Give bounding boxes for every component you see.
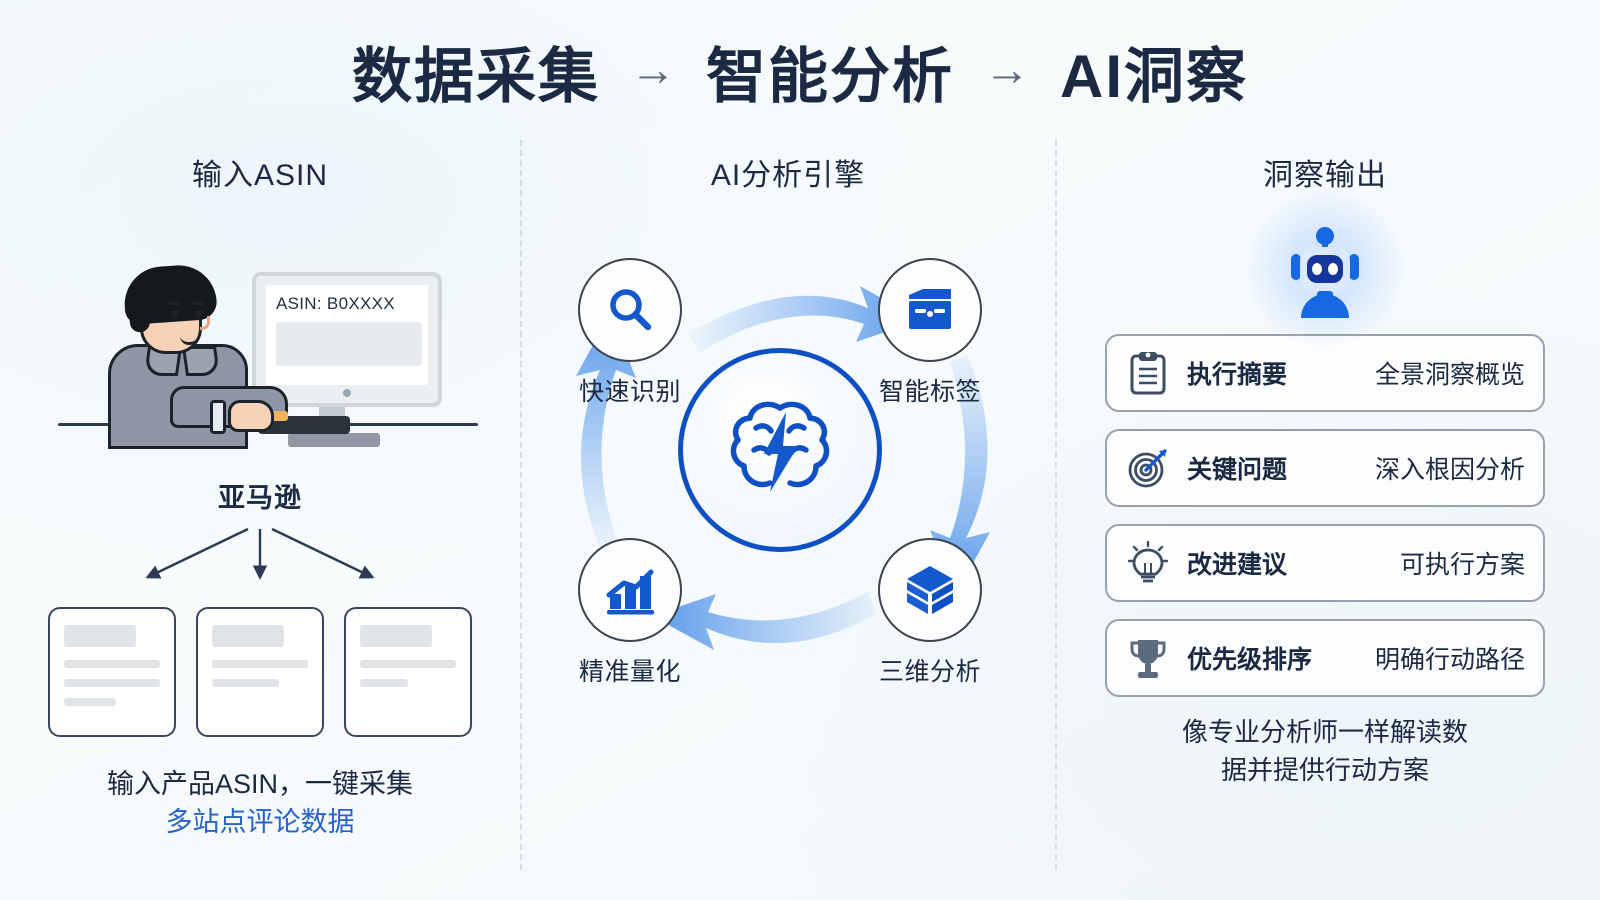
skeleton-line — [64, 679, 160, 687]
brain-lightning-icon — [718, 388, 842, 512]
output-card-desc: 全景洞察概览 — [1375, 355, 1525, 391]
skeleton-line — [212, 679, 279, 687]
monitor-screen: ASIN: B0XXXX — [266, 285, 428, 385]
trophy-icon — [1125, 635, 1171, 681]
monitor: ASIN: B0XXXX — [252, 272, 442, 407]
output-card-list: 执行摘要 全景洞察概览 关键问题 深入根因分析 — [1070, 334, 1580, 697]
skeleton-line — [64, 660, 160, 668]
middle-heading: AI分析引擎 — [538, 150, 1038, 194]
column-output: 洞察输出 — [1070, 150, 1580, 789]
output-card-desc: 深入根因分析 — [1375, 450, 1525, 486]
title-segment-insight: AI洞察 — [1060, 28, 1248, 115]
title-arrow-icon-1: → — [630, 46, 676, 98]
document-card-list — [20, 607, 500, 737]
page-title: 数据采集 → 智能分析 → AI洞察 — [0, 28, 1600, 115]
asin-value-text: ASIN: B0XXXX — [276, 294, 420, 314]
right-caption-line-2: 据并提供行动方案 — [1070, 752, 1580, 790]
search-icon — [603, 283, 657, 337]
document-card — [196, 607, 324, 737]
infographic-canvas: 数据采集 → 智能分析 → AI洞察 输入ASIN ASIN: B0XXXX — [0, 0, 1600, 900]
skeleton-title — [64, 625, 136, 647]
column-engine: AI分析引擎 — [538, 150, 1038, 696]
person-brow-right — [192, 302, 206, 305]
skeleton-line — [64, 698, 116, 706]
title-segment-analyze: 智能分析 — [706, 28, 954, 115]
skeleton-line — [212, 660, 308, 668]
cycle-label-precise-quantification: 精准量化 — [535, 652, 725, 688]
lightbulb-icon — [1125, 540, 1171, 586]
cycle-node-precise-quantification[interactable] — [578, 538, 682, 642]
left-caption-line-2: 多站点评论数据 — [20, 803, 500, 841]
clipboard-icon — [1125, 350, 1171, 396]
column-input: 输入ASIN ASIN: B0XXXX — [20, 150, 500, 842]
output-card-label: 优先级排序 — [1187, 640, 1312, 676]
archive-box-icon — [903, 283, 957, 337]
skeleton-line — [360, 679, 408, 687]
robot-avatar — [1070, 202, 1580, 334]
cycle-label-smart-tags: 智能标签 — [835, 372, 1025, 408]
person-hand — [228, 400, 274, 432]
cycle-arrow-bottom — [652, 592, 876, 650]
cycle-node-smart-tags[interactable] — [878, 258, 982, 362]
person-at-computer-illustration: ASIN: B0XXXX — [20, 204, 500, 454]
target-arrow-icon — [1125, 445, 1171, 491]
output-card-desc: 明确行动路径 — [1375, 640, 1525, 676]
title-arrow-icon-2: → — [984, 46, 1030, 98]
column-divider-1 — [520, 140, 522, 870]
fanout-arrows — [20, 515, 500, 605]
monitor-base — [288, 433, 380, 447]
output-card-label: 关键问题 — [1187, 450, 1287, 486]
fanout-arrow-svg — [20, 515, 500, 605]
cube-3d-icon — [902, 562, 958, 618]
output-card-improvement-advice[interactable]: 改进建议 可执行方案 — [1105, 524, 1545, 602]
output-card-desc: 可执行方案 — [1400, 545, 1525, 581]
right-caption: 像专业分析师一样解读数 据并提供行动方案 — [1070, 714, 1580, 789]
person-nose — [200, 316, 210, 330]
analysis-cycle: 快速识别 智能标签 — [538, 216, 1038, 696]
column-divider-2 — [1055, 140, 1057, 870]
title-segment-collect: 数据采集 — [352, 28, 600, 115]
cycle-label-fast-recognition: 快速识别 — [535, 372, 725, 408]
document-card — [344, 607, 472, 737]
bar-chart-icon — [602, 563, 658, 617]
monitor-power-dot — [343, 389, 351, 397]
left-caption-line-1: 输入产品ASIN，一键采集 — [20, 765, 500, 803]
output-card-key-issues[interactable]: 关键问题 深入根因分析 — [1105, 429, 1545, 507]
output-card-priority-ranking[interactable]: 优先级排序 明确行动路径 — [1105, 619, 1545, 697]
robot-icon — [1269, 212, 1381, 324]
skeleton-title — [360, 625, 432, 647]
cycle-node-three-dim-analysis[interactable] — [878, 538, 982, 642]
skeleton-title — [212, 625, 284, 647]
document-card — [48, 607, 176, 737]
brand-label: 亚马逊 — [20, 476, 500, 515]
output-card-label: 执行摘要 — [1187, 355, 1287, 391]
cycle-node-fast-recognition[interactable] — [578, 258, 682, 362]
left-caption: 输入产品ASIN，一键采集 多站点评论数据 — [20, 765, 500, 842]
person-eye-left — [172, 310, 178, 318]
cycle-label-three-dim-analysis: 三维分析 — [835, 652, 1025, 688]
left-heading: 输入ASIN — [20, 150, 500, 194]
screen-placeholder-block — [276, 322, 422, 366]
right-caption-line-1: 像专业分析师一样解读数 — [1070, 714, 1580, 752]
person-brow-left — [168, 302, 182, 305]
skeleton-line — [360, 660, 456, 668]
person-cuff — [210, 400, 226, 434]
output-card-label: 改进建议 — [1187, 545, 1287, 581]
